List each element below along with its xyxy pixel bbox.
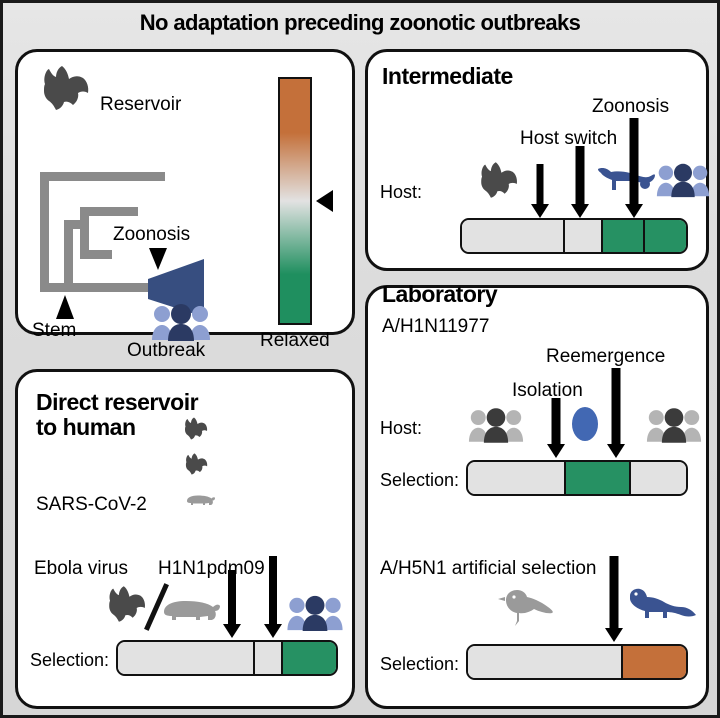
figure-banner: No adaptation preceding zoonotic outbrea…	[3, 3, 717, 43]
tree-label-relaxed: Relaxed	[260, 330, 330, 352]
ferret-icon	[626, 586, 698, 624]
panel-intermediate-host-label: Host:	[380, 182, 422, 203]
tree-branch-node3-top	[80, 207, 138, 216]
people-group-icon	[286, 594, 344, 632]
bar-segment	[643, 220, 686, 252]
panel-direct-virus-ebola: Ebola virus	[34, 558, 128, 580]
arrow-label-host-switch: Host switch	[520, 128, 617, 150]
bar-segment	[281, 642, 336, 674]
panel-direct-reservoir-to-human: Direct reservoir to human SARS-CoV-2 Ebo…	[15, 369, 355, 709]
tree-branch-node3-bottom	[80, 250, 112, 259]
civet-icon	[596, 164, 656, 194]
tree-label-zoonosis: Zoonosis	[113, 224, 190, 246]
bar-segment	[462, 220, 563, 252]
panel-laboratory-selection-label-2: Selection:	[380, 654, 459, 675]
bat-icon	[106, 584, 148, 624]
selection-bar-h1n1	[466, 460, 688, 496]
bar-segment	[564, 462, 629, 494]
panel-laboratory-selection-label-1: Selection:	[380, 470, 459, 491]
panel-laboratory: Laboratory A/H1N11977 Reemergence Isolat…	[365, 285, 709, 709]
bar-segment	[563, 220, 601, 252]
selection-bar-direct	[116, 640, 338, 676]
host-bar-intermediate	[460, 218, 688, 254]
tree-label-reservoir: Reservoir	[100, 94, 181, 116]
panel-tree-schematic: Reservoir Zoonosis Stem Outbreak	[15, 49, 355, 335]
panel-laboratory-host-label: Host:	[380, 418, 422, 439]
up-triangle-icon	[56, 295, 74, 319]
bar-segment	[621, 646, 686, 678]
bar-segment	[253, 642, 281, 674]
panel-laboratory-strain-h5n1: A/H5N1 artificial selection	[380, 558, 596, 580]
bat-icon	[478, 160, 520, 200]
figure-root: No adaptation preceding zoonotic outbrea…	[0, 0, 720, 718]
bar-segment	[601, 220, 644, 252]
people-group-icon	[151, 302, 211, 342]
people-group-icon	[468, 406, 524, 444]
tree-label-stem: Stem	[32, 320, 76, 342]
tree-label-outbreak: Outbreak	[127, 340, 205, 362]
pig-icon	[184, 492, 216, 508]
panel-direct-virus-sars: SARS-CoV-2	[36, 494, 147, 516]
panel-direct-virus-h1n1: H1N1pdm09	[158, 558, 265, 580]
arrow-label-isolation: Isolation	[512, 380, 583, 402]
bat-icon	[184, 452, 209, 476]
people-group-icon	[656, 162, 710, 198]
pig-icon	[158, 594, 222, 626]
bar-segment	[468, 646, 621, 678]
bar-segment	[118, 642, 253, 674]
people-group-icon	[646, 406, 702, 444]
bat-icon	[183, 416, 209, 441]
panel-intermediate: Intermediate Zoonosis Host switch Host:	[365, 49, 709, 271]
arrow-label-reemergence: Reemergence	[546, 346, 665, 368]
panel-laboratory-title: Laboratory	[382, 282, 497, 307]
bar-segment	[629, 462, 686, 494]
tree-branch-terminal-outbreak	[64, 283, 160, 292]
banner-title: No adaptation preceding zoonotic outbrea…	[140, 10, 581, 36]
panel-direct-selection-label: Selection:	[30, 650, 109, 671]
panel-intermediate-title: Intermediate	[382, 64, 513, 89]
bird-icon	[494, 588, 556, 628]
arrow-label-zoonosis: Zoonosis	[592, 96, 669, 118]
left-triangle-icon	[316, 190, 333, 212]
selection-bar-h5n1	[466, 644, 688, 680]
panel-laboratory-strain-h1n1: A/H1N11977	[382, 316, 489, 338]
egg-icon	[570, 400, 600, 442]
tree-branch-top-horizontal	[40, 172, 165, 181]
tree-branch-node2-vertical	[64, 220, 73, 292]
bar-segment	[468, 462, 564, 494]
tree-branch-stem-vertical	[40, 172, 49, 292]
bat-icon	[40, 64, 92, 112]
relaxation-gradient-bar	[278, 77, 312, 325]
